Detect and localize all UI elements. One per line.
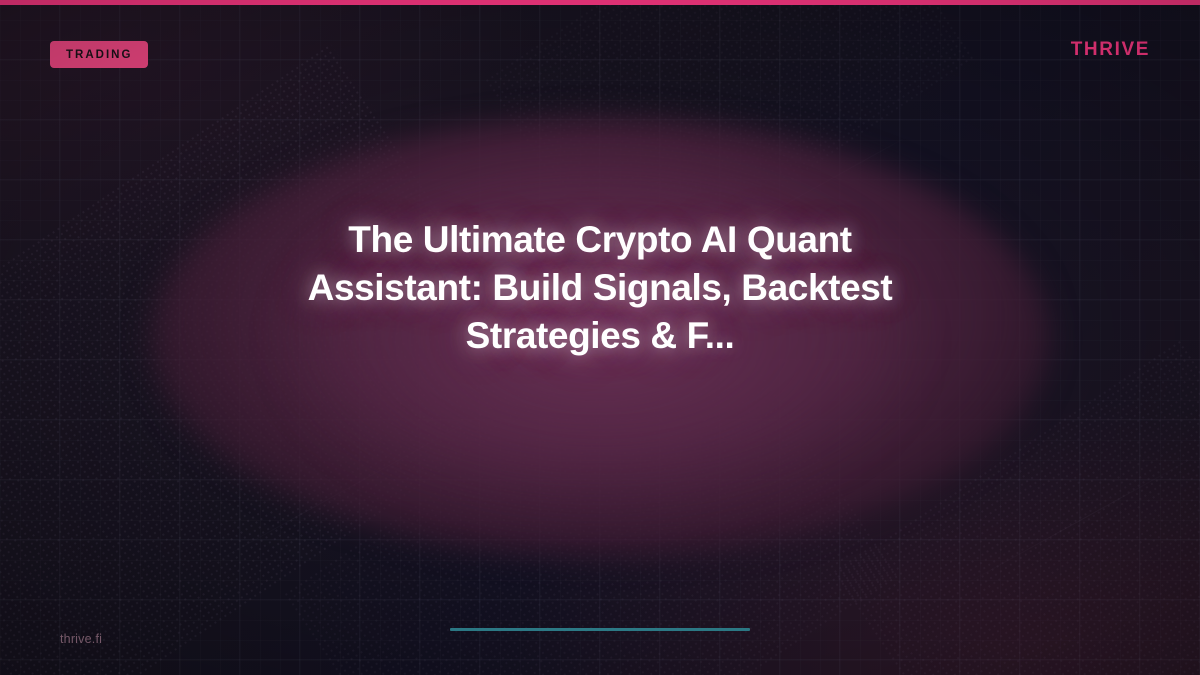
brand-logo: THRIVE [1071, 39, 1150, 61]
slide-canvas: TRADING THRIVE The Ultimate Crypto AI Qu… [0, 0, 1200, 675]
top-accent-bar [0, 0, 1200, 5]
page-title: The Ultimate Crypto AI Quant Assistant: … [0, 216, 1200, 360]
footer-site-url: thrive.fi [60, 632, 102, 646]
category-badge: TRADING [50, 41, 148, 68]
footer-accent-line [450, 628, 750, 631]
